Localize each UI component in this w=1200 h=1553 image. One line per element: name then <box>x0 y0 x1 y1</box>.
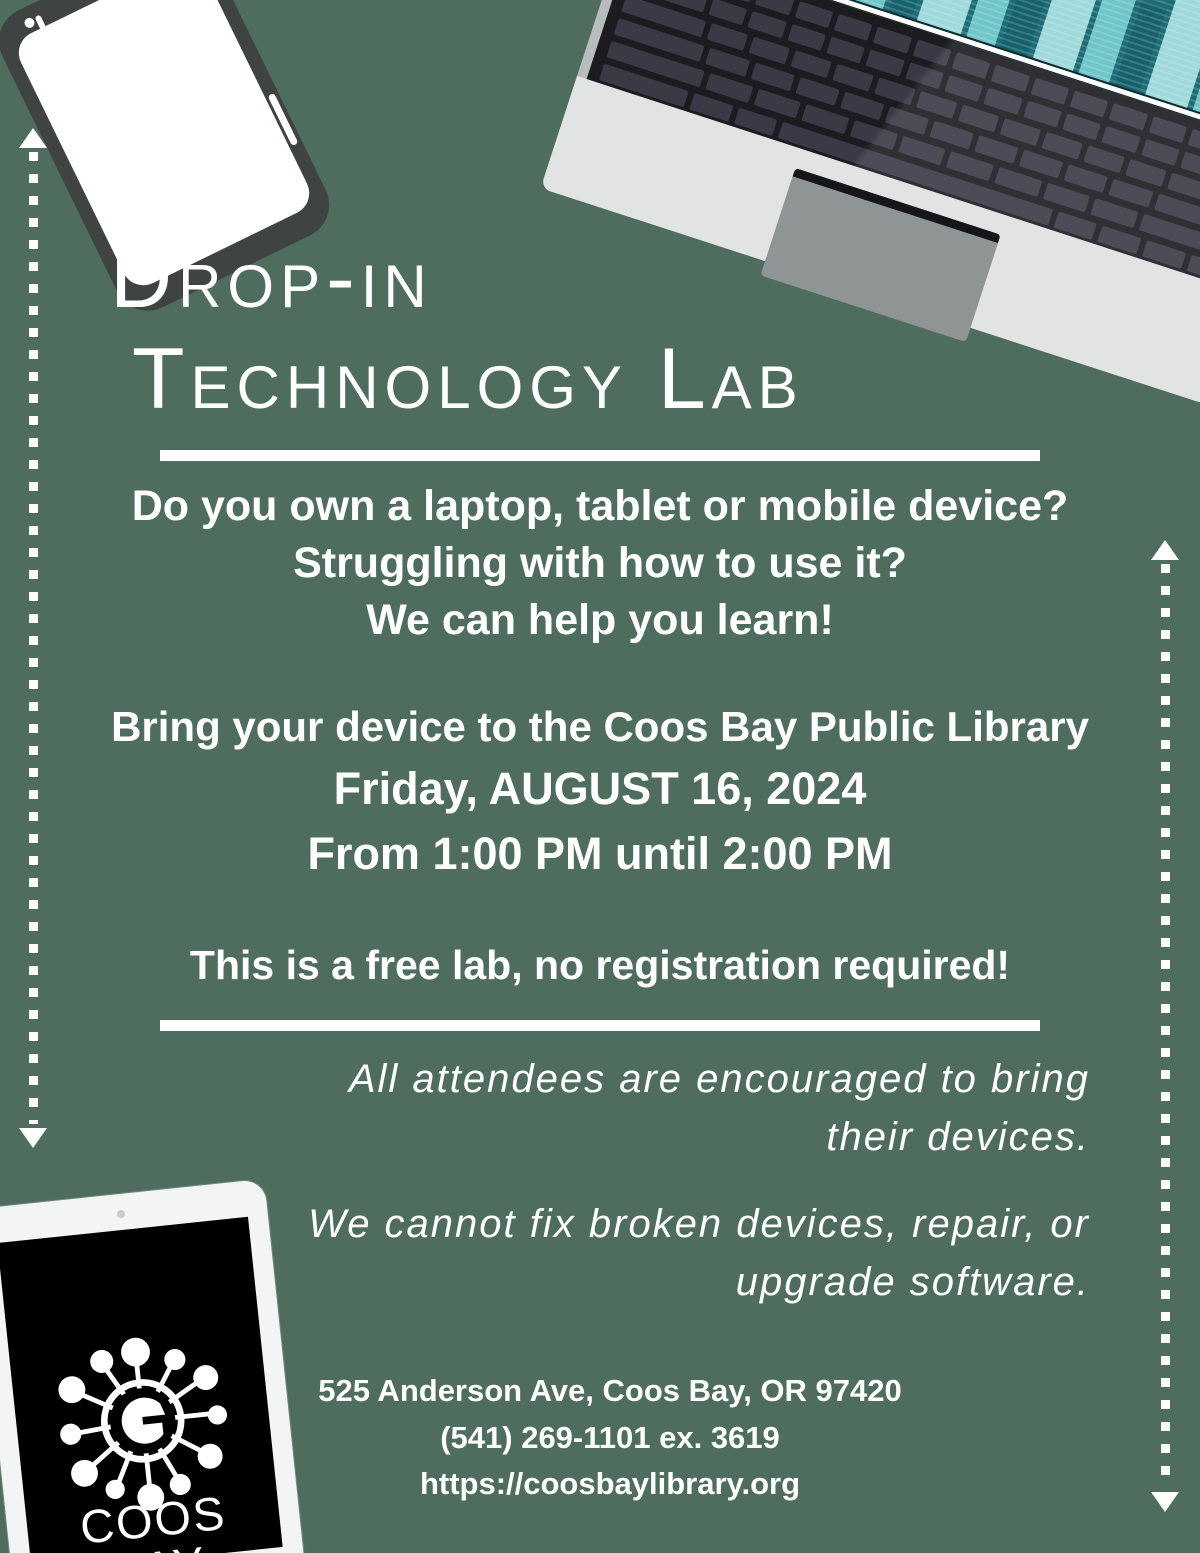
event-location-line: Bring your device to the Coos Bay Public… <box>60 700 1140 754</box>
event-date-line: Friday, AUGUST 16, 2024 <box>60 760 1140 818</box>
event-details-block: Bring your device to the Coos Bay Public… <box>60 700 1140 883</box>
disclaimer-line-2: We cannot fix broken devices, repair, or… <box>260 1195 1090 1311</box>
contact-address: 525 Anderson Ave, Coos Bay, OR 97420 <box>240 1368 980 1415</box>
contact-block: 525 Anderson Ave, Coos Bay, OR 97420 (54… <box>240 1368 980 1508</box>
library-logo-tablet: COOS BAY PUBLIC LIBRARY <box>0 1179 306 1553</box>
free-lab-note: This is a free lab, no registration requ… <box>60 942 1140 989</box>
flyer-poster: Drop-in Technology Lab Do you own a lapt… <box>0 0 1200 1553</box>
intro-line-1: Do you own a laptop, tablet or mobile de… <box>60 478 1140 535</box>
tablet-camera-icon <box>117 1210 126 1219</box>
page-title: Drop-in Technology Lab <box>110 228 1050 431</box>
intro-line-2: Struggling with how to use it? <box>60 535 1140 592</box>
contact-phone: (541) 269-1101 ex. 3619 <box>240 1415 980 1462</box>
divider-top <box>160 450 1040 461</box>
page-title-line-1: Drop-in <box>110 228 1050 329</box>
divider-bottom <box>160 1020 1040 1031</box>
disclaimer-line-1: All attendees are encouraged to bring th… <box>260 1050 1090 1166</box>
page-title-line-2: Technology Lab <box>110 329 1050 430</box>
intro-line-3: We can help you learn! <box>60 592 1140 649</box>
contact-website[interactable]: https://coosbaylibrary.org <box>240 1461 980 1508</box>
event-time-line: From 1:00 PM until 2:00 PM <box>60 825 1140 883</box>
tablet-screen: COOS BAY PUBLIC LIBRARY <box>0 1217 283 1553</box>
intro-block: Do you own a laptop, tablet or mobile de… <box>60 478 1140 648</box>
